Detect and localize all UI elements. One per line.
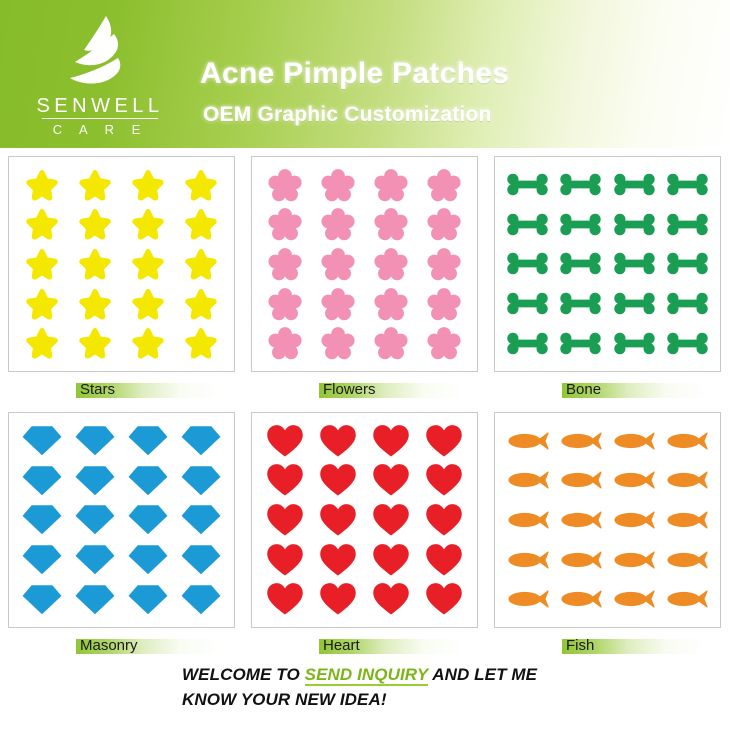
variant-label-text: Bone: [564, 380, 603, 400]
bone-shape-icon: [613, 332, 656, 355]
diamond-shape-icon: [22, 584, 62, 615]
fish-shape-icon: [666, 431, 708, 451]
product-infographic: SENWELL C A R E Acne Pimple Patches OEM …: [0, 0, 730, 730]
shape-grid-masonry: [9, 413, 234, 627]
flower-shape-icon: [267, 206, 303, 242]
flower-shape-icon: [426, 246, 462, 282]
flower-shape-icon: [373, 286, 409, 322]
fish-shape-icon: [560, 589, 602, 609]
heart-shape-icon: [319, 424, 357, 458]
flower-shape-icon: [320, 286, 356, 322]
variant-label-fish: Fish: [486, 630, 729, 664]
fish-shape-icon: [666, 470, 708, 490]
bone-shape-icon: [506, 173, 549, 196]
shape-grid-heart: [252, 413, 477, 627]
variant-card-heart[interactable]: Heart: [243, 408, 486, 664]
bone-shape-icon: [666, 213, 709, 236]
flower-shape-icon: [426, 325, 462, 361]
heart-shape-icon: [372, 503, 410, 537]
flower-shape-icon: [373, 325, 409, 361]
diamond-shape-icon: [75, 504, 115, 535]
shape-grid-bone: [495, 157, 720, 371]
flower-shape-icon: [426, 206, 462, 242]
star-shape-icon: [25, 247, 59, 281]
diamond-shape-icon: [128, 584, 168, 615]
diamond-shape-icon: [181, 544, 221, 575]
heart-shape-icon: [266, 424, 304, 458]
star-shape-icon: [25, 168, 59, 202]
variant-row-top: Stars: [0, 152, 730, 408]
diamond-shape-icon: [128, 504, 168, 535]
fish-shape-icon: [613, 470, 655, 490]
heart-shape-icon: [266, 582, 304, 616]
variant-label-text: Fish: [564, 636, 596, 656]
page-subtitle: OEM Graphic Customization: [203, 104, 492, 125]
heart-shape-icon: [425, 543, 463, 577]
variant-label-text: Heart: [321, 636, 362, 656]
fish-shape-icon: [613, 510, 655, 530]
star-shape-icon: [78, 326, 112, 360]
patch-sheet-masonry: [8, 412, 235, 628]
heart-shape-icon: [266, 503, 304, 537]
bone-shape-icon: [559, 173, 602, 196]
diamond-shape-icon: [22, 465, 62, 496]
page-title: Acne Pimple Patches: [200, 59, 509, 89]
fish-shape-icon: [666, 510, 708, 530]
flower-shape-icon: [373, 246, 409, 282]
star-shape-icon: [78, 247, 112, 281]
bone-shape-icon: [666, 332, 709, 355]
patch-sheet-stars: [8, 156, 235, 372]
variant-row-bottom: Masonry: [0, 408, 730, 664]
variant-card-masonry[interactable]: Masonry: [0, 408, 243, 664]
star-shape-icon: [131, 287, 165, 321]
bone-shape-icon: [559, 292, 602, 315]
variant-label-text: Stars: [78, 380, 117, 400]
footer-text-after: AND LET ME: [428, 665, 537, 684]
flower-shape-icon: [320, 325, 356, 361]
flower-shape-icon: [320, 246, 356, 282]
diamond-shape-icon: [75, 544, 115, 575]
bone-shape-icon: [559, 213, 602, 236]
variant-card-stars[interactable]: Stars: [0, 152, 243, 408]
fish-shape-icon: [613, 431, 655, 451]
bone-shape-icon: [666, 292, 709, 315]
bone-shape-icon: [613, 173, 656, 196]
brand-name: SENWELL: [20, 96, 180, 116]
bone-shape-icon: [506, 252, 549, 275]
diamond-shape-icon: [181, 465, 221, 496]
send-inquiry-link[interactable]: SEND INQUIRY: [305, 665, 428, 686]
flower-shape-icon: [267, 246, 303, 282]
diamond-shape-icon: [128, 425, 168, 456]
star-shape-icon: [25, 326, 59, 360]
fish-shape-icon: [560, 431, 602, 451]
fish-shape-icon: [666, 550, 708, 570]
star-shape-icon: [78, 168, 112, 202]
variant-label-masonry: Masonry: [0, 630, 243, 664]
star-shape-icon: [78, 287, 112, 321]
star-shape-icon: [131, 207, 165, 241]
heart-shape-icon: [372, 424, 410, 458]
bone-shape-icon: [506, 332, 549, 355]
shape-grid-fish: [495, 413, 720, 627]
heart-shape-icon: [372, 543, 410, 577]
heart-shape-icon: [372, 463, 410, 497]
star-shape-icon: [184, 207, 218, 241]
bone-shape-icon: [613, 213, 656, 236]
variant-label-heart: Heart: [243, 630, 486, 664]
fish-shape-icon: [507, 470, 549, 490]
brand-subtitle: C A R E: [20, 123, 180, 136]
diamond-shape-icon: [75, 465, 115, 496]
fish-shape-icon: [560, 550, 602, 570]
diamond-shape-icon: [181, 425, 221, 456]
flower-shape-icon: [373, 167, 409, 203]
star-shape-icon: [184, 326, 218, 360]
heart-shape-icon: [266, 463, 304, 497]
flower-shape-icon: [267, 286, 303, 322]
footer-line-2: KNOW YOUR NEW IDEA!: [182, 687, 730, 712]
star-shape-icon: [25, 207, 59, 241]
star-shape-icon: [131, 326, 165, 360]
patch-variants-grid: Stars: [0, 152, 730, 664]
star-shape-icon: [184, 168, 218, 202]
diamond-shape-icon: [75, 584, 115, 615]
brand-divider: [42, 118, 158, 119]
fish-shape-icon: [613, 550, 655, 570]
variant-label-stars: Stars: [0, 374, 243, 408]
heart-shape-icon: [425, 582, 463, 616]
heart-shape-icon: [319, 503, 357, 537]
flower-shape-icon: [320, 167, 356, 203]
star-shape-icon: [131, 168, 165, 202]
patch-sheet-fish: [494, 412, 721, 628]
diamond-shape-icon: [181, 504, 221, 535]
variant-card-bone[interactable]: Bone: [486, 152, 729, 408]
bone-shape-icon: [613, 252, 656, 275]
flower-shape-icon: [426, 286, 462, 322]
fish-shape-icon: [507, 431, 549, 451]
fish-shape-icon: [560, 510, 602, 530]
leaf-feather-logo-icon: [44, 14, 154, 94]
footer-text-before: WELCOME TO: [182, 665, 305, 684]
variant-card-fish[interactable]: Fish: [486, 408, 729, 664]
fish-shape-icon: [507, 510, 549, 530]
variant-label-flowers: Flowers: [243, 374, 486, 408]
fish-shape-icon: [666, 589, 708, 609]
patch-sheet-heart: [251, 412, 478, 628]
flower-shape-icon: [320, 206, 356, 242]
heart-shape-icon: [319, 543, 357, 577]
bone-shape-icon: [666, 173, 709, 196]
flower-shape-icon: [267, 167, 303, 203]
bone-shape-icon: [559, 252, 602, 275]
variant-label-text: Flowers: [321, 380, 378, 400]
diamond-shape-icon: [22, 425, 62, 456]
heart-shape-icon: [425, 424, 463, 458]
heart-shape-icon: [425, 463, 463, 497]
fish-shape-icon: [613, 589, 655, 609]
heart-shape-icon: [372, 582, 410, 616]
bone-shape-icon: [559, 332, 602, 355]
diamond-shape-icon: [128, 465, 168, 496]
bone-shape-icon: [613, 292, 656, 315]
variant-card-flowers[interactable]: Flowers: [243, 152, 486, 408]
heart-shape-icon: [425, 503, 463, 537]
star-shape-icon: [131, 247, 165, 281]
star-shape-icon: [78, 207, 112, 241]
star-shape-icon: [184, 287, 218, 321]
patch-sheet-bone: [494, 156, 721, 372]
fish-shape-icon: [507, 589, 549, 609]
variant-label-bone: Bone: [486, 374, 729, 408]
shape-grid-stars: [9, 157, 234, 371]
diamond-shape-icon: [22, 544, 62, 575]
footer-line-1: WELCOME TO SEND INQUIRY AND LET ME: [182, 662, 730, 687]
flower-shape-icon: [267, 325, 303, 361]
patch-sheet-flowers: [251, 156, 478, 372]
heart-shape-icon: [266, 543, 304, 577]
flower-shape-icon: [373, 206, 409, 242]
fish-shape-icon: [560, 470, 602, 490]
heart-shape-icon: [319, 463, 357, 497]
heart-shape-icon: [319, 582, 357, 616]
footer-callout: WELCOME TO SEND INQUIRY AND LET ME KNOW …: [0, 662, 730, 712]
star-shape-icon: [25, 287, 59, 321]
brand-logo: SENWELL C A R E: [20, 12, 180, 138]
diamond-shape-icon: [75, 425, 115, 456]
header-banner: SENWELL C A R E Acne Pimple Patches OEM …: [0, 0, 730, 148]
bone-shape-icon: [506, 213, 549, 236]
diamond-shape-icon: [128, 544, 168, 575]
flower-shape-icon: [426, 167, 462, 203]
bone-shape-icon: [666, 252, 709, 275]
fish-shape-icon: [507, 550, 549, 570]
diamond-shape-icon: [22, 504, 62, 535]
variant-label-text: Masonry: [78, 636, 140, 656]
star-shape-icon: [184, 247, 218, 281]
shape-grid-flowers: [252, 157, 477, 371]
diamond-shape-icon: [181, 584, 221, 615]
bone-shape-icon: [506, 292, 549, 315]
